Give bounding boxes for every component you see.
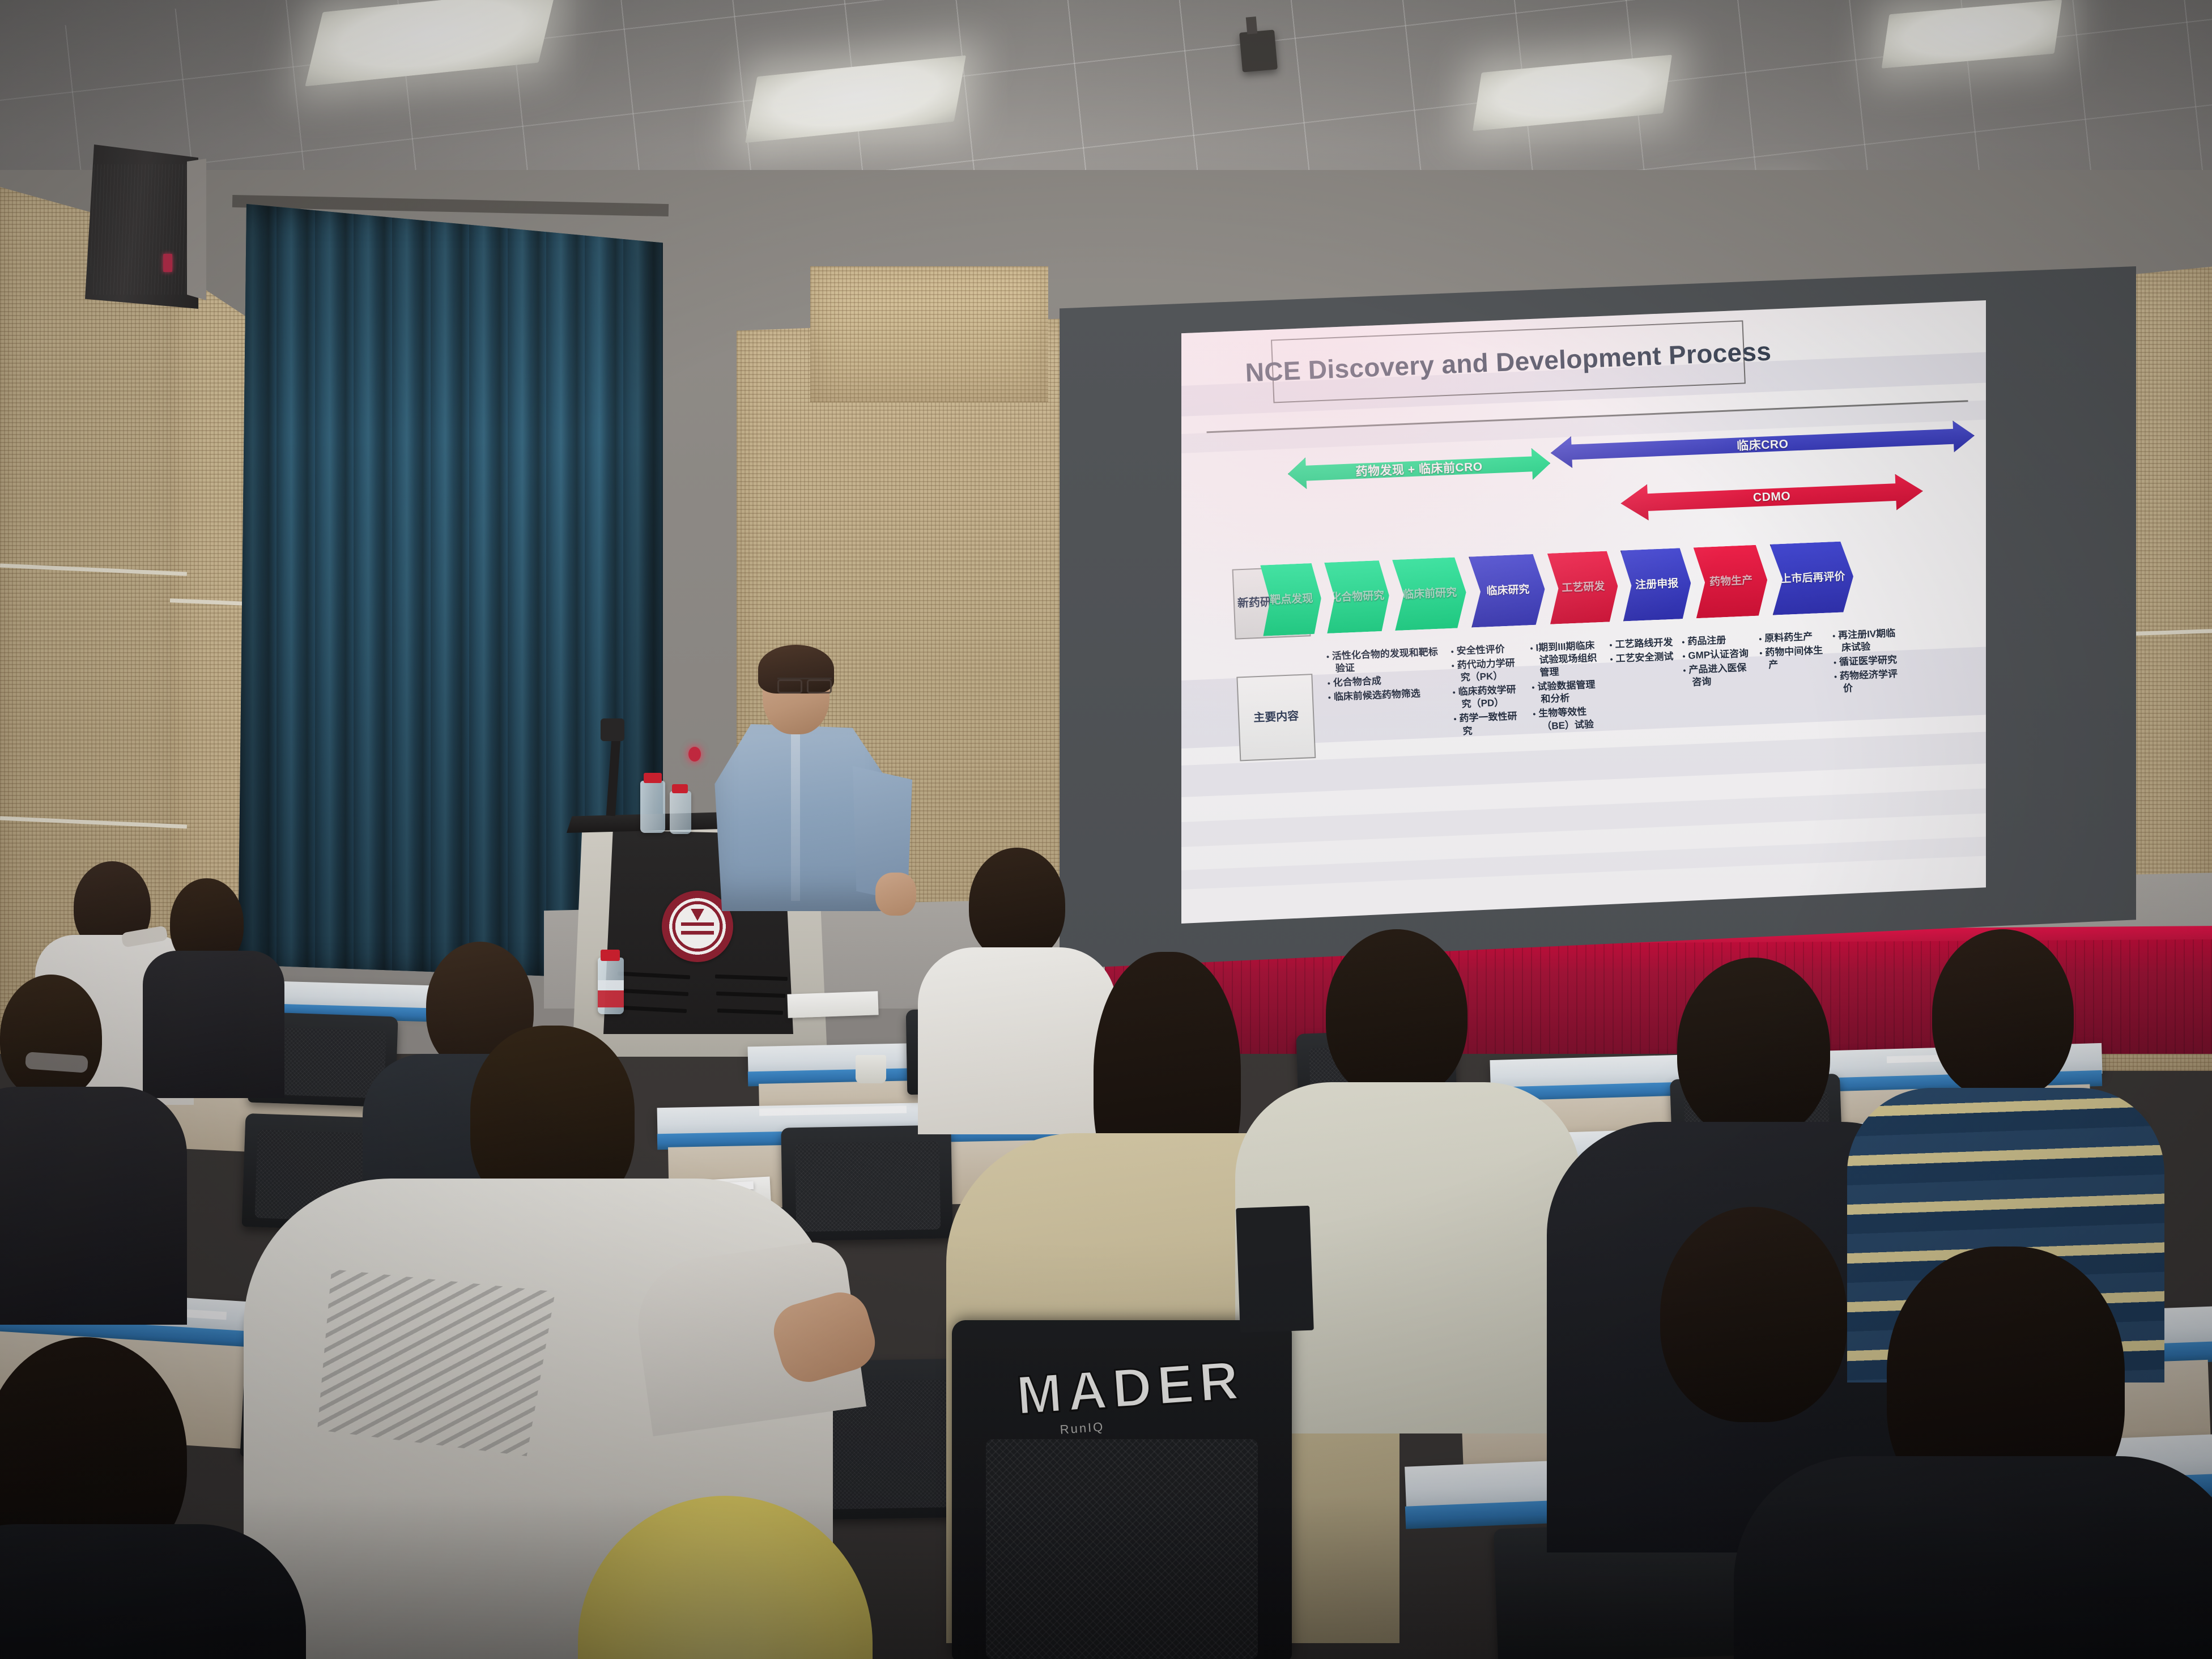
arrow-drug-discovery-preclinical-cro: 药物发现 + 临床前CRO [1287,448,1551,490]
content-item: 药物中间体生产 [1768,644,1827,671]
content-item: 药物经济学评价 [1843,668,1905,696]
stage-chevron-5: 工艺研发 [1547,551,1619,624]
audience-head [1326,929,1467,1099]
stage-chevron-label: 工艺研发 [1562,581,1605,594]
stage-chevron-3: 临床前研究 [1392,557,1467,631]
row-label-content: 主要内容 [1236,674,1316,761]
stage-chevron-4: 临床研究 [1469,554,1546,627]
content-item: 药品注册 [1690,633,1752,648]
stage-chevron-label: 临床前研究 [1403,586,1457,601]
microphone-head [601,718,624,741]
projection-screen: NCE Discovery and Development Process 药物… [1181,300,1986,924]
content-item: 临床药效学研究（PD） [1461,683,1526,711]
content-column-3: I期到III期临床试验现场组织管理 试验数据管理和分析 生物等效性（BE）试验 [1529,639,1606,735]
stage-chevron-2: 化合物研究 [1324,560,1390,633]
tshirt-graphic [317,1269,555,1456]
audience-torso [0,1087,187,1325]
stage-chevron-label: 靶点发现 [1270,593,1313,606]
content-item: 生物等效性（BE）试验 [1541,705,1606,733]
foreground-shadow [0,1496,2212,1659]
audience-head [1677,958,1830,1139]
content-column-6: 原料药生产 药物中间体生产 [1758,630,1827,674]
content-item: 药学一致性研究 [1462,710,1527,738]
arrow-label: CDMO [1622,484,1922,511]
bottle-label [598,980,624,1007]
content-column-2: 安全性评价 药代动力学研究（PK） 临床药效学研究（PD） 药学一致性研究 [1449,643,1527,740]
audience-torso [143,951,284,1098]
content-item: 临床前候选药物筛选 [1337,687,1444,704]
presenter-shirt-placket [791,731,800,901]
stage-chevron-6: 注册申报 [1620,548,1692,622]
content-item: 原料药生产 [1767,630,1826,645]
audience-head [969,848,1065,961]
content-item: GMP认证咨询 [1691,647,1752,662]
content-column-1: 活性化合物的发现和靶标验证 化合物合成 临床前候选药物筛选 [1325,646,1444,706]
slide-title: NCE Discovery and Development Process [1245,335,1772,388]
slide-title-box: NCE Discovery and Development Process [1271,320,1746,403]
content-item: 安全性评价 [1459,643,1524,658]
content-item: I期到III期临床试验现场组织管理 [1538,639,1604,679]
stage-chevron-label: 化合物研究 [1330,590,1385,604]
stage-chevron-label: 临床研究 [1486,584,1530,597]
arrow-label: 临床CRO [1551,427,1974,462]
lecture-hall-photo: NCE Discovery and Development Process 药物… [0,0,2212,1659]
speaker-grille [91,164,187,295]
audience-head [1660,1207,1847,1422]
speaker-mount-bracket [187,159,206,300]
ceiling-projector [1239,29,1278,72]
presenter-glasses [777,678,832,691]
audience-head [1932,929,2074,1099]
arrow-cdmo: CDMO [1620,473,1924,522]
content-item: 活性化合物的发现和靶标验证 [1335,646,1443,675]
stage-chevron-label: 上市后再评价 [1780,571,1845,585]
stage-chevron-8: 上市后再评价 [1770,541,1855,615]
tablet-device [1236,1206,1314,1333]
audience-torso [918,947,1116,1134]
content-item: 工艺路线开发 [1618,636,1675,651]
audience-head [0,975,102,1099]
notebook [787,991,878,1018]
content-item: 工艺安全测试 [1618,650,1676,665]
content-item: 产品进入医保咨询 [1691,661,1754,689]
paper-cup [856,1055,886,1083]
stage-chevron-7: 药物生产 [1694,545,1769,618]
water-bottle [670,791,691,834]
content-item: 循证医学研究 [1842,653,1904,669]
presenter-hand [875,873,916,916]
chair-mesh [795,1141,941,1232]
speaker-indicator-light [163,254,172,272]
content-column-7: 再注册IV期临床试验 循证医学研究 药物经济学评价 [1831,627,1905,697]
stage-chevron-label: 注册申报 [1635,577,1679,591]
bottle-cap [601,950,620,961]
water-bottle [640,781,665,833]
bottle-cap [672,784,688,793]
slide-content: NCE Discovery and Development Process 药物… [1182,300,1986,924]
bottle-cap [644,773,662,783]
content-column-4: 工艺路线开发 工艺安全测试 [1608,636,1676,667]
content-column-5: 药品注册 GMP认证咨询 产品进入医保咨询 [1681,633,1754,691]
row-label-content-text: 主要内容 [1253,710,1299,725]
content-item: 药代动力学研究（PK） [1460,657,1525,684]
acoustic-wall-panel-center-upper [810,266,1048,402]
content-item: 试验数据管理和分析 [1540,678,1605,706]
laser-pointer-dot [688,747,701,762]
stage-chevron-label: 药物生产 [1709,575,1753,588]
arrow-label: 药物发现 + 临床前CRO [1288,455,1550,483]
content-item: 再注册IV期临床试验 [1841,627,1903,654]
arrow-clinical-cro: 临床CRO [1550,420,1975,469]
